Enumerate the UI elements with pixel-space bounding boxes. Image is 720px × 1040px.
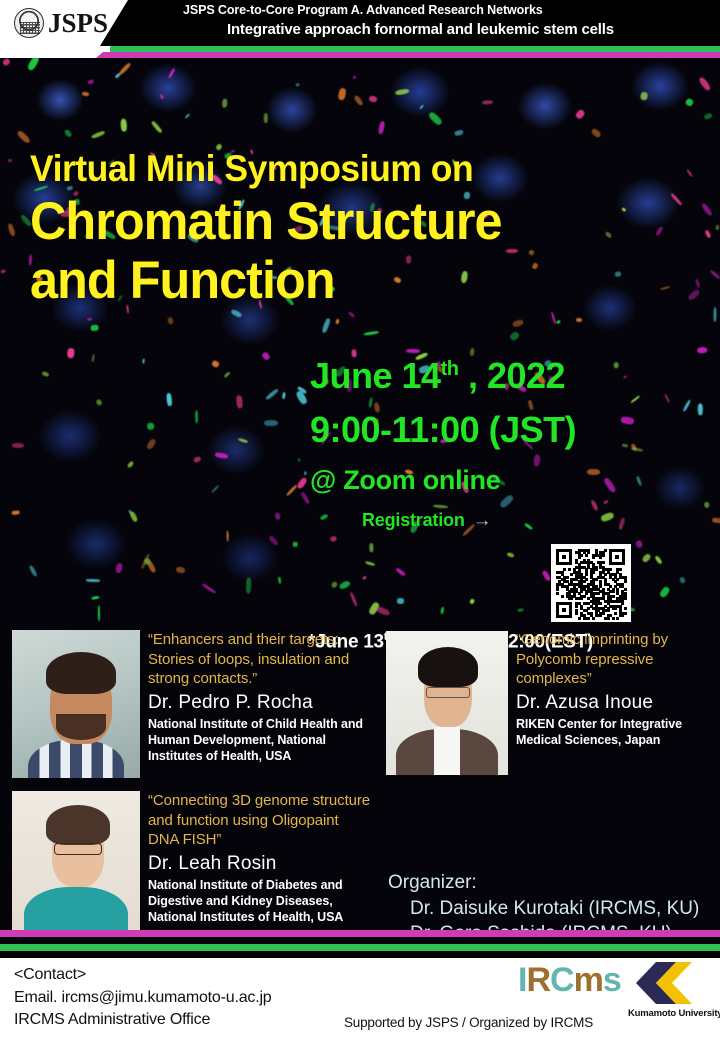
poster-title-block: Virtual Mini Symposium on Chromatin Stru… <box>30 150 670 309</box>
speaker-2-text: “Genomic imprinting by Polycomb repressi… <box>516 630 712 748</box>
contact-email[interactable]: Email. ircms@jimu.kumamoto-u.ac.jp <box>14 987 272 1010</box>
kumamoto-university-logo-icon <box>630 962 692 1004</box>
speaker-2-photo-shirt <box>434 727 460 775</box>
speaker-1-text: “Enhancers and their targets: Stories of… <box>148 630 370 764</box>
poster-footer: <Contact> Email. ircms@jimu.kumamoto-u.a… <box>0 958 720 1040</box>
speaker-3-quote: “Connecting 3D genome structure and func… <box>148 791 372 850</box>
arrow-right-icon: → <box>473 511 492 530</box>
event-time: 9:00-11:00 (JST) <box>310 410 710 450</box>
ircms-logo-c: C <box>550 961 574 999</box>
speaker-3-text: “Connecting 3D genome structure and func… <box>148 791 372 925</box>
speaker-2-photo <box>386 631 508 775</box>
registration-qr-code[interactable] <box>551 544 631 622</box>
speaker-2-photo-glasses <box>426 687 470 698</box>
organizer-label: Organizer: <box>388 870 699 896</box>
organizer-person-1: Dr. Daisuke Kurotaki (IRCMS, KU) <box>388 896 699 922</box>
title-line-2: Chromatin Structure <box>30 193 638 250</box>
header-theme-line: Integrative approach fornormal and leuke… <box>175 21 715 38</box>
speaker-1-photo <box>12 630 140 778</box>
footer-green-bar <box>0 944 720 951</box>
event-date: June 14th , 2022 <box>310 356 710 396</box>
registration-row[interactable]: Registration → <box>310 510 710 531</box>
ircms-logo-r: R <box>526 961 550 999</box>
speaker-2-affiliation: RIKEN Center for Integrative Medical Sci… <box>516 716 712 748</box>
kumamoto-university-name: Kumamoto University <box>628 1008 720 1019</box>
footer-bar-gap <box>0 937 720 944</box>
speaker-2-quote: “Genomic imprinting by Polycomb repressi… <box>516 630 712 689</box>
contact-block: <Contact> Email. ircms@jimu.kumamoto-u.a… <box>14 964 272 1032</box>
header-program-line: JSPS Core-to-Core Program A. Advanced Re… <box>175 3 715 17</box>
organizer-block: Organizer: Dr. Daisuke Kurotaki (IRCMS, … <box>388 870 699 930</box>
poster-body: Virtual Mini Symposium on Chromatin Stru… <box>0 58 720 930</box>
contact-office: IRCMS Administrative Office <box>14 1009 272 1032</box>
event-date-text: June 14 <box>310 355 441 396</box>
title-line-3: and Function <box>30 252 638 309</box>
event-date-ordinal: th <box>441 358 459 380</box>
title-line-1: Virtual Mini Symposium on <box>30 150 644 189</box>
speaker-3-photo-hair <box>46 805 110 845</box>
event-venue: @ Zoom online <box>310 465 710 496</box>
organizer-person-2: Dr. Goro Sashida (IRCMS, KU) <box>388 921 699 930</box>
speaker-2-name: Dr. Azusa Inoue <box>516 692 712 715</box>
speaker-1-photo-beard <box>56 714 106 740</box>
ku-chevron-svg <box>630 962 692 1004</box>
symposium-poster: JSPS JSPS Core-to-Core Program A. Advanc… <box>0 0 720 1040</box>
speaker-1-affiliation: National Institute of Child Health and H… <box>148 716 370 764</box>
registration-label: Registration <box>362 510 465 531</box>
jsps-wordmark: JSPS <box>48 10 108 37</box>
speaker-1-name: Dr. Pedro P. Rocha <box>148 692 370 715</box>
speaker-3-name: Dr. Leah Rosin <box>148 853 372 876</box>
jsps-seal-icon <box>14 8 44 38</box>
speaker-1-photo-body <box>28 740 124 778</box>
footer-black-edge <box>0 951 720 958</box>
ircms-logo-s: s <box>603 961 621 999</box>
poster-header: JSPS JSPS Core-to-Core Program A. Advanc… <box>0 0 720 46</box>
qr-code-matrix <box>556 549 626 617</box>
speaker-3-affiliation: National Institute of Diabetes and Diges… <box>148 877 372 925</box>
jsps-logo: JSPS <box>14 4 134 42</box>
event-details-block: June 14th , 2022 9:00-11:00 (JST) @ Zoom… <box>310 356 710 531</box>
speaker-1-photo-hair <box>46 652 116 694</box>
speaker-2-photo-hair <box>418 647 478 687</box>
ircms-logo: IRCms <box>518 963 621 997</box>
support-credit-line: Supported by JSPS / Organized by IRCMS <box>344 1015 593 1030</box>
speaker-3-photo-body <box>24 887 128 930</box>
speaker-1-quote: “Enhancers and their targets: Stories of… <box>148 630 370 689</box>
event-date-year: , 2022 <box>458 355 565 396</box>
header-text-block: JSPS Core-to-Core Program A. Advanced Re… <box>175 3 715 38</box>
ircms-logo-m: m <box>574 961 603 999</box>
speaker-3-photo-glasses <box>54 843 102 855</box>
footer-magenta-bar <box>0 930 720 937</box>
contact-label: <Contact> <box>14 964 272 987</box>
speaker-3-photo <box>12 791 140 930</box>
